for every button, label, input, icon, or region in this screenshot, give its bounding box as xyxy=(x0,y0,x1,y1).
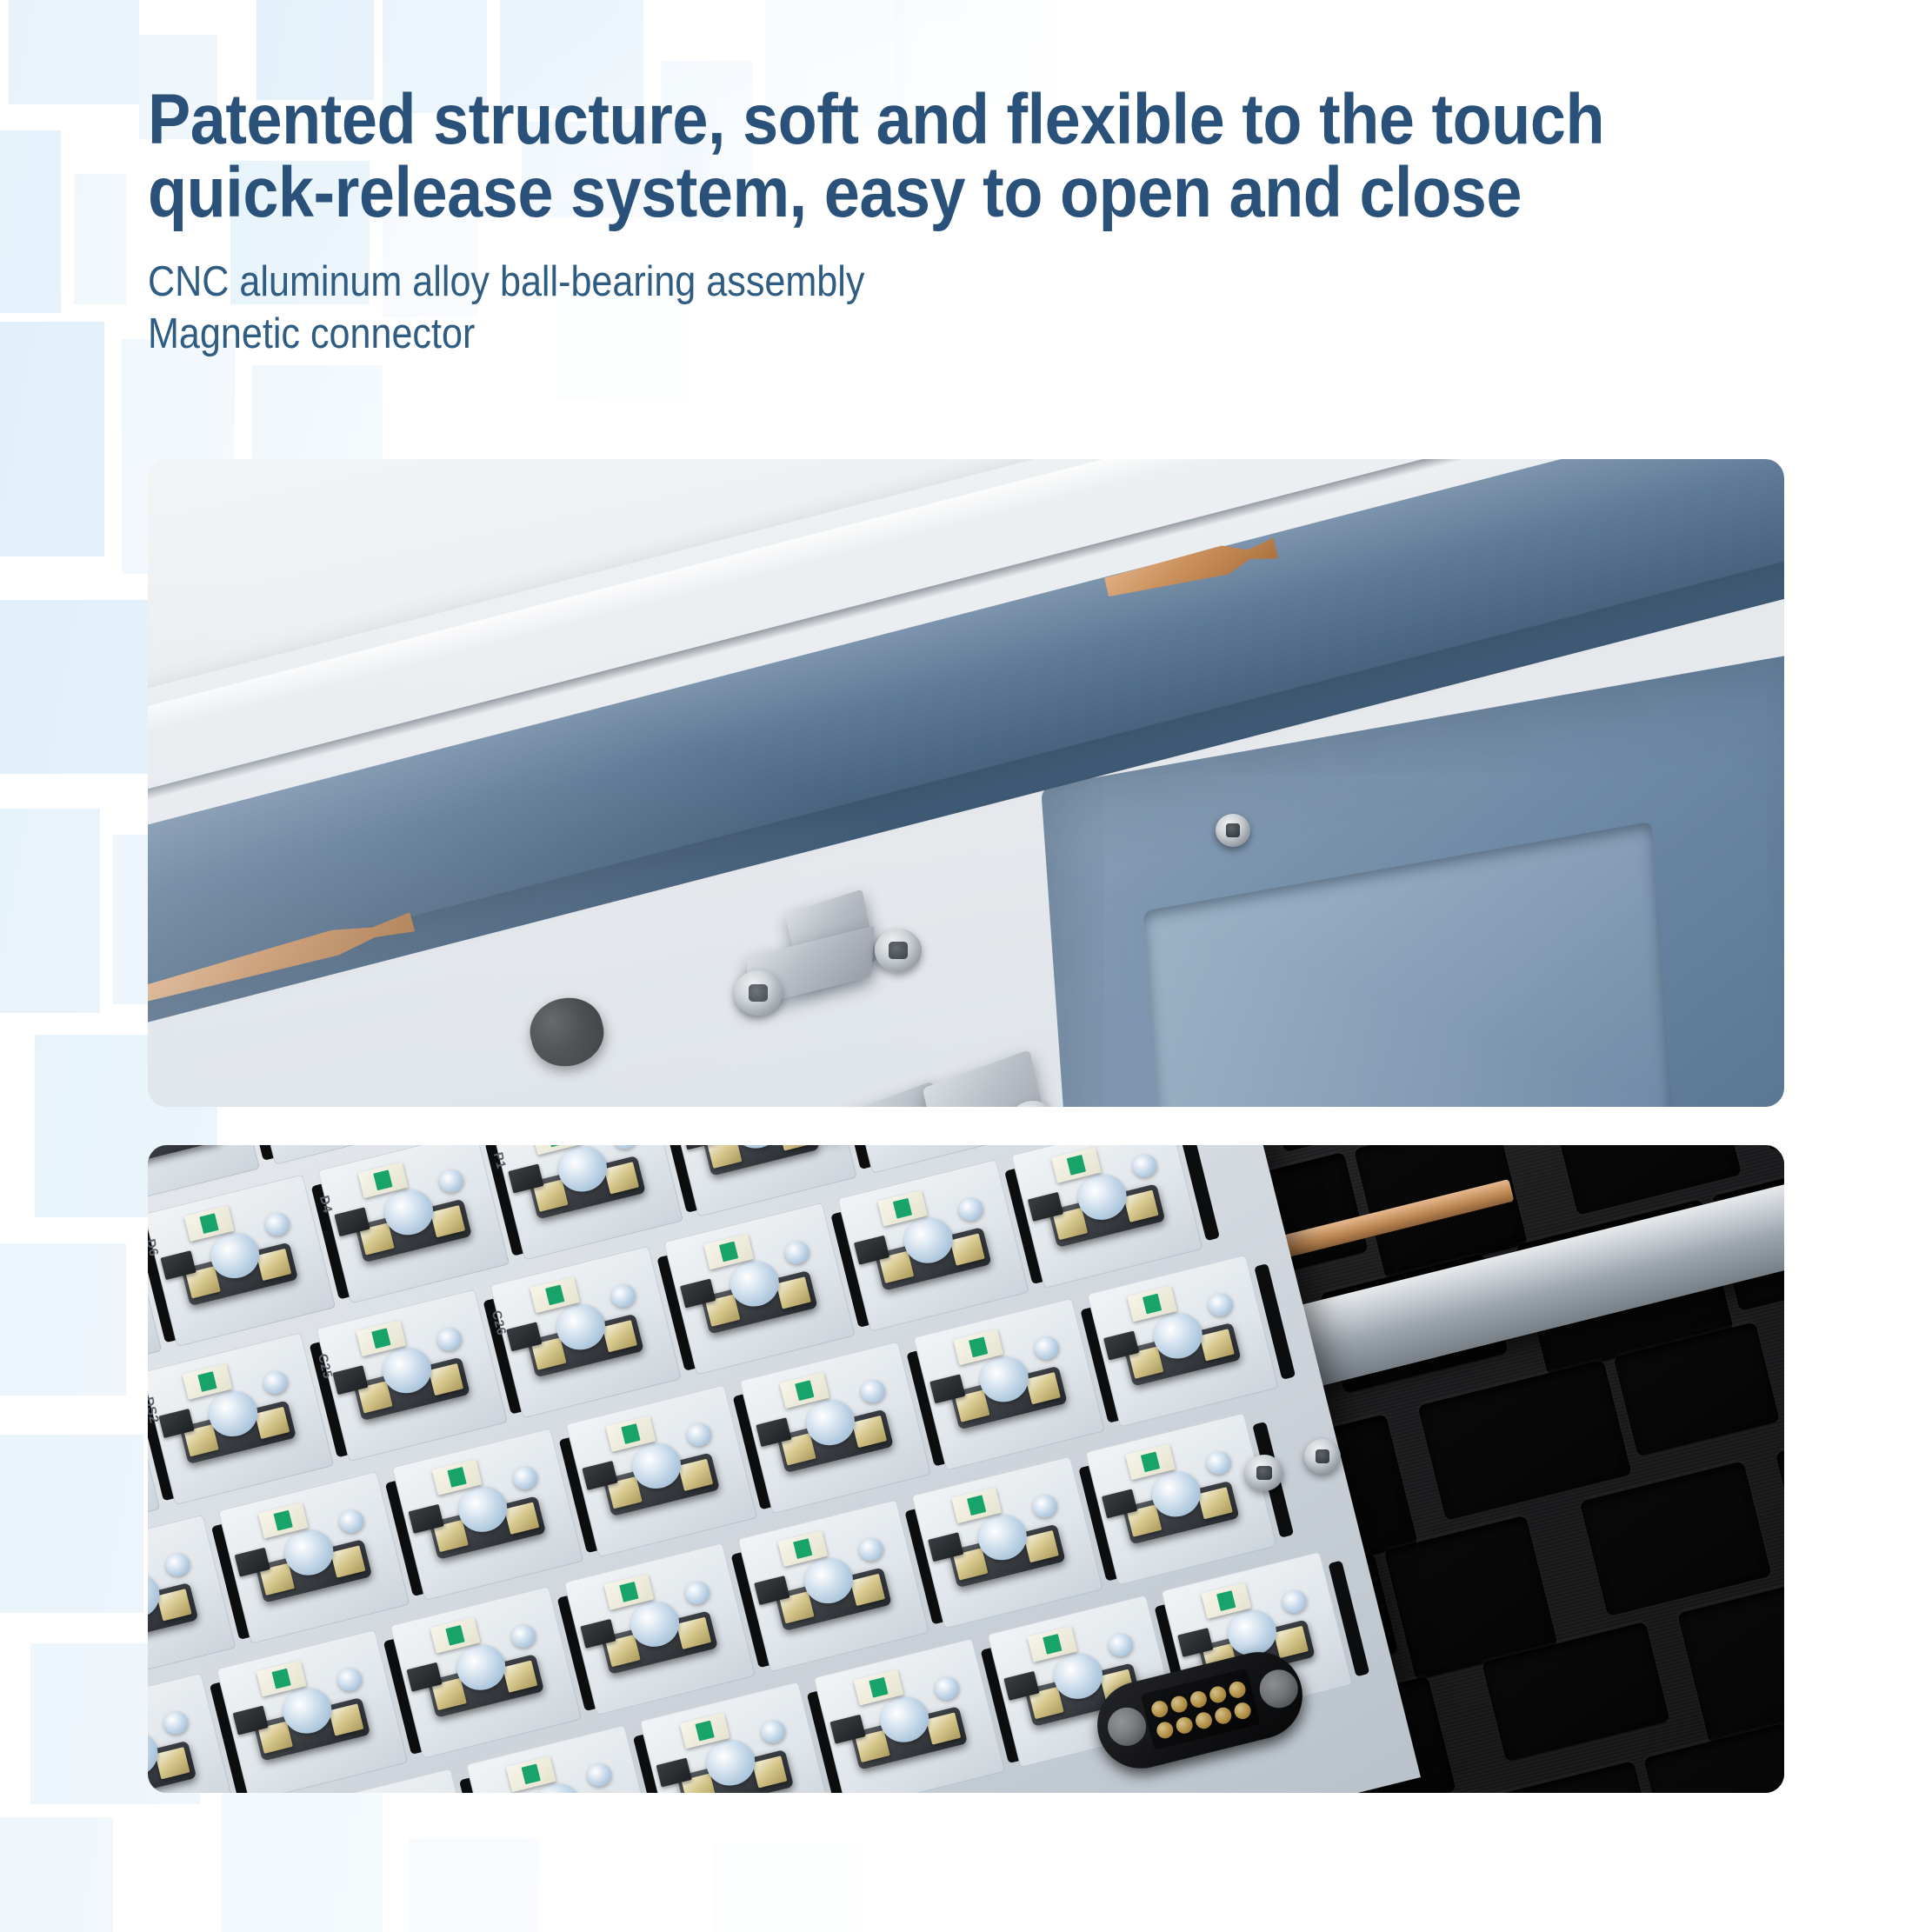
header-text-block: Patented structure, soft and flexible to… xyxy=(148,83,1852,361)
product-photo-pcb-magnetic-connector: D33D22CA20D15D14CA18CA25D5D6D4P1F6F7F8F9… xyxy=(148,1145,1784,1793)
foam-cutout xyxy=(1775,1407,1784,1553)
connector-magnet-disc xyxy=(1256,1666,1302,1712)
connector-magnet-disc xyxy=(1103,1703,1149,1749)
page-title: Patented structure, soft and flexible to… xyxy=(148,83,1682,229)
page-subtitle: CNC aluminum alloy ball-bearing assembly… xyxy=(148,256,1648,361)
rail-hex-screw-2 xyxy=(1304,1439,1341,1474)
product-photo-hinge-rail xyxy=(148,459,1784,1107)
foam-cutout xyxy=(1448,1761,1662,1793)
pcb-scene: D33D22CA20D15D14CA18CA25D5D6D4P1F6F7F8F9… xyxy=(148,1145,1784,1793)
foam-cutout xyxy=(1580,1461,1772,1616)
rail-hex-screw-1 xyxy=(1245,1455,1283,1491)
hinge-rail-scene xyxy=(148,459,1784,1107)
photo-vignette xyxy=(148,459,1784,1107)
foam-cutout xyxy=(1745,1145,1784,1151)
